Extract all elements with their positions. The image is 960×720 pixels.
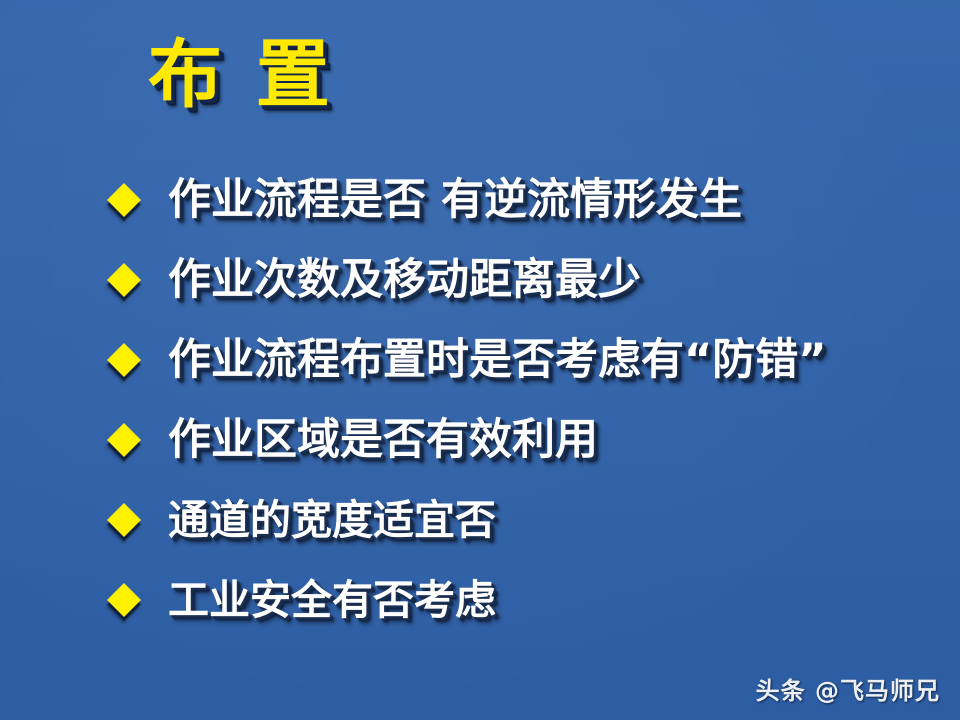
list-item-label: 作业区域是否有效利用 [168,419,942,462]
diamond-bullet-icon [112,508,168,532]
diamond-bullet-icon [112,188,168,212]
slide-title: 布 置 [148,34,334,117]
list-item: 作业流程是否 有逆流情形发生 [112,160,942,240]
list-item-label: 工业安全有否考虑 [168,580,942,621]
diamond-bullet-icon [112,428,168,452]
watermark-label: 头条 @飞马师兄 [756,671,940,706]
list-item-label: 通道的宽度适宜否 [168,500,942,541]
list-item-label: 作业流程是否 有逆流情形发生 [168,179,942,222]
diamond-bullet-icon [112,348,168,372]
list-item: 作业次数及移动距离最少 [112,240,942,320]
list-item-label: 作业次数及移动距离最少 [168,259,942,302]
diamond-bullet-icon [112,268,168,292]
list-item: 通道的宽度适宜否 [112,480,942,560]
list-item: 工业安全有否考虑 [112,560,942,640]
list-item: 作业区域是否有效利用 [112,400,942,480]
bullet-list: 作业流程是否 有逆流情形发生 作业次数及移动距离最少 作业流程布置时是否考虑有“… [112,160,942,640]
list-item: 作业流程布置时是否考虑有“防错” [112,320,942,400]
list-item-label: 作业流程布置时是否考虑有“防错” [168,339,942,382]
diamond-bullet-icon [112,588,168,612]
presentation-slide: 布 置 作业流程是否 有逆流情形发生 作业次数及移动距离最少 作业流程布置时是否… [0,0,960,720]
